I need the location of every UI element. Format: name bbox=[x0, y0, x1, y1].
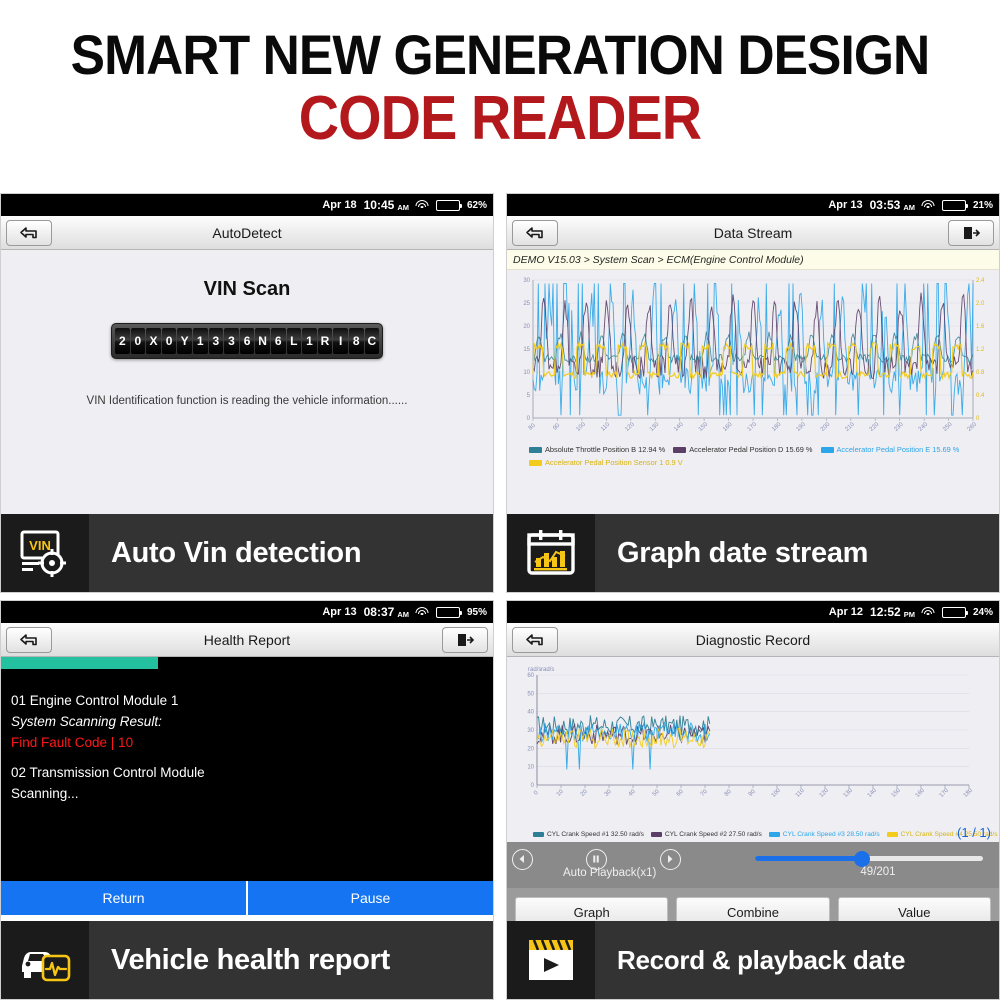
title-bar: Diagnostic Record bbox=[507, 623, 999, 657]
battery-percent: 95% bbox=[467, 607, 487, 618]
svg-text:50: 50 bbox=[652, 788, 661, 797]
battery-icon bbox=[942, 607, 966, 618]
svg-text:30: 30 bbox=[527, 728, 534, 734]
legend-swatch bbox=[651, 832, 662, 837]
page-title: Data Stream bbox=[507, 225, 999, 241]
back-arrow-icon bbox=[18, 225, 40, 241]
vin-character: R bbox=[318, 328, 333, 354]
svg-text:30: 30 bbox=[523, 278, 530, 284]
svg-text:150: 150 bbox=[698, 421, 710, 433]
svg-text:120: 120 bbox=[624, 421, 636, 433]
caption-label: Graph date stream bbox=[595, 514, 1000, 592]
svg-text:240: 240 bbox=[918, 421, 930, 433]
back-button[interactable] bbox=[512, 220, 558, 246]
svg-text:230: 230 bbox=[893, 421, 905, 433]
svg-text:20: 20 bbox=[580, 788, 589, 797]
page-title: Health Report bbox=[1, 632, 493, 648]
svg-text:20: 20 bbox=[527, 746, 534, 752]
exit-icon bbox=[455, 632, 475, 648]
legend-label: Accelerator Pedal Position D 15.69 % bbox=[689, 445, 812, 454]
vin-scan-icon: VIN bbox=[1, 514, 89, 592]
panel-autodetect: Apr 18 10:45 AM 62% AutoDetect VIN Scan … bbox=[0, 193, 494, 593]
vin-character: L bbox=[287, 328, 302, 354]
svg-text:5: 5 bbox=[527, 393, 531, 399]
vin-character: 8 bbox=[349, 328, 364, 354]
legend-item[interactable]: CYL Crank Speed #1 32.50 rad/s bbox=[533, 831, 644, 838]
log-module-2: 02 Transmission Control Module bbox=[11, 763, 483, 784]
chart-canvas: 05101520253000.40.81.21.62.02.4809010011… bbox=[507, 270, 1000, 450]
legend-swatch bbox=[533, 832, 544, 837]
vin-character: C bbox=[365, 328, 380, 354]
svg-text:250: 250 bbox=[942, 421, 954, 433]
previous-button[interactable] bbox=[507, 847, 537, 871]
legend-swatch bbox=[821, 447, 834, 453]
svg-text:10: 10 bbox=[556, 788, 565, 797]
svg-text:90: 90 bbox=[748, 788, 757, 797]
status-bar: Apr 13 08:37 AM 95% bbox=[1, 601, 493, 623]
svg-text:110: 110 bbox=[600, 421, 612, 432]
svg-text:70: 70 bbox=[700, 788, 709, 797]
status-time: 08:37 bbox=[364, 605, 395, 619]
wifi-icon bbox=[416, 607, 429, 617]
previous-icon bbox=[512, 849, 533, 870]
battery-percent: 24% bbox=[973, 607, 993, 618]
caption-vehicle-health-report: Vehicle health report bbox=[1, 921, 494, 999]
vin-display: 20X0Y1336N6L1RI8C bbox=[111, 323, 383, 359]
playback-bar: Auto Playback(x1) 49/201 bbox=[507, 842, 999, 888]
svg-text:0.8: 0.8 bbox=[976, 370, 985, 376]
svg-text:170: 170 bbox=[939, 787, 951, 799]
playback-speed-label: Auto Playback(x1) bbox=[563, 867, 656, 879]
panel-health-report: Apr 13 08:37 AM 95% Health Report bbox=[0, 600, 494, 1000]
wifi-icon bbox=[922, 607, 935, 617]
svg-text:140: 140 bbox=[673, 421, 685, 433]
status-ampm: AM bbox=[397, 610, 409, 619]
scan-progress-fill bbox=[1, 657, 158, 669]
svg-text:260: 260 bbox=[967, 421, 979, 433]
status-time: 03:53 bbox=[870, 198, 901, 212]
vin-character: 2 bbox=[115, 328, 130, 354]
svg-text:160: 160 bbox=[915, 787, 927, 799]
playback-slider[interactable] bbox=[755, 856, 983, 861]
svg-text:rad/s: rad/s bbox=[541, 667, 554, 673]
wifi-icon bbox=[922, 200, 935, 210]
caption-auto-vin: VIN Auto Vin detection bbox=[1, 514, 494, 592]
legend-item[interactable]: Accelerator Pedal Position Sensor 1 0.9 … bbox=[529, 458, 683, 467]
battery-percent: 62% bbox=[467, 200, 487, 211]
chart-canvas: 0102030405060rad/srad/s01020304050607080… bbox=[507, 657, 1000, 812]
page-title: Diagnostic Record bbox=[507, 632, 999, 648]
chart-legend: CYL Crank Speed #1 32.50 rad/sCYL Crank … bbox=[533, 831, 993, 838]
exit-icon bbox=[961, 225, 981, 241]
vin-character: X bbox=[146, 328, 161, 354]
legend-swatch bbox=[529, 460, 542, 466]
legend-item[interactable]: Accelerator Pedal Position D 15.69 % bbox=[673, 445, 812, 454]
caption-label: Record & playback date bbox=[595, 921, 1000, 999]
svg-text:60: 60 bbox=[676, 788, 685, 797]
svg-text:0: 0 bbox=[531, 783, 535, 789]
scan-log: 01 Engine Control Module 1 System Scanni… bbox=[1, 669, 493, 881]
vin-character: N bbox=[255, 328, 270, 354]
legend-label: Accelerator Pedal Position Sensor 1 0.9 … bbox=[545, 458, 683, 467]
svg-text:30: 30 bbox=[604, 788, 613, 797]
legend-label: Absolute Throttle Position B 12.94 % bbox=[545, 445, 665, 454]
log-scanning: Scanning... bbox=[11, 784, 483, 805]
battery-icon bbox=[436, 200, 460, 211]
legend-item[interactable]: Absolute Throttle Position B 12.94 % bbox=[529, 445, 665, 454]
legend-swatch bbox=[769, 832, 780, 837]
vin-character: 6 bbox=[271, 328, 286, 354]
svg-text:10: 10 bbox=[527, 765, 534, 771]
svg-text:0: 0 bbox=[976, 416, 980, 422]
svg-text:110: 110 bbox=[795, 787, 806, 798]
svg-text:VIN: VIN bbox=[29, 538, 51, 553]
svg-text:15: 15 bbox=[523, 347, 530, 353]
screenshot-grid: Apr 18 10:45 AM 62% AutoDetect VIN Scan … bbox=[0, 193, 1000, 1000]
frame-counter: 49/201 bbox=[757, 866, 999, 878]
svg-text:130: 130 bbox=[843, 787, 855, 799]
title-bar: Data Stream bbox=[507, 216, 999, 250]
back-button[interactable] bbox=[512, 627, 558, 653]
page-title: AutoDetect bbox=[1, 225, 493, 241]
svg-text:150: 150 bbox=[891, 787, 903, 799]
svg-text:130: 130 bbox=[649, 421, 661, 433]
panel-diagnostic-record: Apr 12 12:52 PM 24% Diagnostic Record 01… bbox=[506, 600, 1000, 1000]
svg-text:170: 170 bbox=[747, 421, 759, 433]
slider-fill bbox=[755, 856, 862, 861]
status-ampm: AM bbox=[397, 203, 409, 212]
svg-text:190: 190 bbox=[795, 421, 807, 433]
svg-text:200: 200 bbox=[820, 421, 832, 433]
log-module-1: 01 Engine Control Module 1 bbox=[11, 691, 483, 712]
status-bar: Apr 12 12:52 PM 24% bbox=[507, 601, 999, 623]
back-arrow-icon bbox=[18, 632, 40, 648]
back-button[interactable] bbox=[6, 627, 52, 653]
svg-text:140: 140 bbox=[867, 787, 879, 799]
svg-text:60: 60 bbox=[527, 673, 534, 679]
legend-swatch bbox=[673, 447, 686, 453]
caption-label: Auto Vin detection bbox=[89, 514, 494, 592]
caption-graph-data-stream: Graph date stream bbox=[507, 514, 1000, 592]
vin-character: 3 bbox=[209, 328, 224, 354]
page-indicator: (1 / 1) bbox=[957, 825, 991, 840]
diagnostic-record-chart[interactable]: 0102030405060rad/srad/s01020304050607080… bbox=[507, 657, 999, 842]
return-button[interactable]: Return bbox=[1, 881, 246, 915]
svg-text:10: 10 bbox=[523, 370, 530, 376]
legend-label: CYL Crank Speed #1 32.50 rad/s bbox=[547, 831, 644, 838]
svg-text:90: 90 bbox=[552, 422, 561, 431]
legend-item[interactable]: CYL Crank Speed #2 27.50 rad/s bbox=[651, 831, 762, 838]
back-button[interactable] bbox=[6, 220, 52, 246]
svg-text:80: 80 bbox=[724, 788, 733, 797]
next-button[interactable] bbox=[655, 847, 685, 871]
svg-text:210: 210 bbox=[844, 421, 856, 433]
vin-character: I bbox=[333, 328, 348, 354]
vin-status-message: VIN Identification function is reading t… bbox=[1, 395, 493, 407]
vin-character: Y bbox=[177, 328, 192, 354]
vin-character: 6 bbox=[240, 328, 255, 354]
svg-text:180: 180 bbox=[771, 421, 783, 433]
battery-icon bbox=[942, 200, 966, 211]
caption-record-playback: Record & playback date bbox=[507, 921, 1000, 999]
title-bar: Health Report bbox=[1, 623, 493, 657]
battery-percent: 21% bbox=[973, 200, 993, 211]
calendar-chart-icon bbox=[507, 514, 595, 592]
next-icon bbox=[660, 849, 681, 870]
status-date: Apr 18 bbox=[322, 199, 356, 211]
legend-item[interactable]: CYL Crank Speed #3 28.50 rad/s bbox=[769, 831, 880, 838]
battery-icon bbox=[436, 607, 460, 618]
svg-text:0: 0 bbox=[533, 790, 540, 797]
svg-text:1.2: 1.2 bbox=[976, 347, 985, 353]
status-time: 12:52 bbox=[870, 605, 901, 619]
status-ampm: AM bbox=[903, 203, 915, 212]
back-arrow-icon bbox=[524, 632, 546, 648]
svg-text:40: 40 bbox=[628, 788, 637, 797]
headline-primary: SMART NEW GENERATION DESIGN bbox=[40, 26, 960, 83]
svg-text:160: 160 bbox=[722, 421, 734, 433]
slider-handle[interactable] bbox=[854, 851, 870, 867]
action-bar: Return Pause bbox=[1, 881, 493, 915]
svg-text:80: 80 bbox=[528, 422, 537, 431]
breadcrumb: DEMO V15.03 > System Scan > ECM(Engine C… bbox=[507, 250, 999, 270]
status-bar: Apr 18 10:45 AM 62% bbox=[1, 194, 493, 216]
caption-label: Vehicle health report bbox=[89, 921, 494, 999]
svg-text:25: 25 bbox=[523, 301, 530, 307]
exit-button[interactable] bbox=[442, 627, 488, 653]
svg-text:40: 40 bbox=[527, 710, 534, 716]
legend-label: CYL Crank Speed #3 28.50 rad/s bbox=[783, 831, 880, 838]
pause-button[interactable]: Pause bbox=[246, 881, 493, 915]
vin-character: 0 bbox=[131, 328, 146, 354]
status-date: Apr 12 bbox=[829, 606, 863, 618]
svg-text:220: 220 bbox=[869, 421, 881, 433]
vin-character: 3 bbox=[224, 328, 239, 354]
wifi-icon bbox=[416, 200, 429, 210]
vin-character: 0 bbox=[162, 328, 177, 354]
back-arrow-icon bbox=[524, 225, 546, 241]
svg-text:100: 100 bbox=[575, 421, 587, 433]
scan-progress-bar bbox=[1, 657, 493, 669]
log-scan-result-label: System Scanning Result: bbox=[11, 712, 483, 733]
svg-text:rad/s: rad/s bbox=[528, 667, 541, 673]
headline-secondary: CODE READER bbox=[50, 87, 950, 150]
legend-label: CYL Crank Speed #2 27.50 rad/s bbox=[665, 831, 762, 838]
svg-text:2.4: 2.4 bbox=[976, 278, 985, 284]
legend-swatch bbox=[887, 832, 898, 837]
svg-text:120: 120 bbox=[819, 787, 831, 799]
svg-text:100: 100 bbox=[771, 787, 783, 799]
panel-data-stream: Apr 13 03:53 AM 21% Data Stream DEMO V15… bbox=[506, 193, 1000, 593]
vin-character: 1 bbox=[193, 328, 208, 354]
status-date: Apr 13 bbox=[322, 606, 356, 618]
status-ampm: PM bbox=[904, 610, 915, 619]
status-date: Apr 13 bbox=[828, 199, 862, 211]
legend-label: Accelerator Pedal Position E 15.69 % bbox=[837, 445, 960, 454]
status-bar: Apr 13 03:53 AM 21% bbox=[507, 194, 999, 216]
vin-character: 1 bbox=[302, 328, 317, 354]
log-fault-code: Find Fault Code | 10 bbox=[11, 733, 483, 754]
svg-text:0: 0 bbox=[527, 416, 531, 422]
chart-legend: Absolute Throttle Position B 12.94 %Acce… bbox=[529, 445, 991, 467]
svg-text:2.0: 2.0 bbox=[976, 301, 985, 307]
legend-item[interactable]: Accelerator Pedal Position E 15.69 % bbox=[821, 445, 960, 454]
car-health-icon bbox=[1, 921, 89, 999]
vin-scan-heading: VIN Scan bbox=[1, 250, 493, 301]
svg-text:20: 20 bbox=[523, 324, 530, 330]
exit-button[interactable] bbox=[948, 220, 994, 246]
svg-text:0.4: 0.4 bbox=[976, 393, 985, 399]
headline-block: SMART NEW GENERATION DESIGN CODE READER bbox=[0, 0, 1000, 150]
svg-text:50: 50 bbox=[527, 691, 534, 697]
svg-text:180: 180 bbox=[963, 787, 975, 799]
legend-swatch bbox=[529, 447, 542, 453]
status-time: 10:45 bbox=[364, 198, 395, 212]
title-bar: AutoDetect bbox=[1, 216, 493, 250]
clapperboard-play-icon bbox=[507, 921, 595, 999]
svg-text:1.6: 1.6 bbox=[976, 324, 985, 330]
